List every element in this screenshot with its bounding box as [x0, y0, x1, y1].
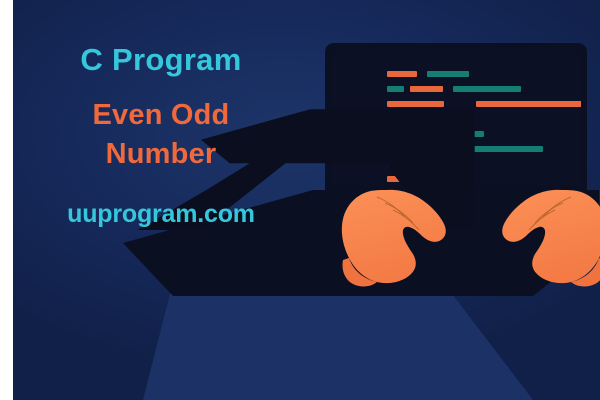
title-line-2: Even Odd [13, 101, 309, 131]
title-line-1: C Program [13, 44, 309, 76]
right-hand [493, 188, 600, 300]
left-white-margin [0, 0, 13, 400]
title-line-3: Number [13, 140, 309, 170]
poster-background: C Program Even Odd Number uuprogram.com [13, 0, 600, 400]
poster-canvas: C Program Even Odd Number uuprogram.com [0, 0, 600, 400]
website-url: uuprogram.com [13, 202, 309, 228]
left-hand [335, 188, 455, 300]
